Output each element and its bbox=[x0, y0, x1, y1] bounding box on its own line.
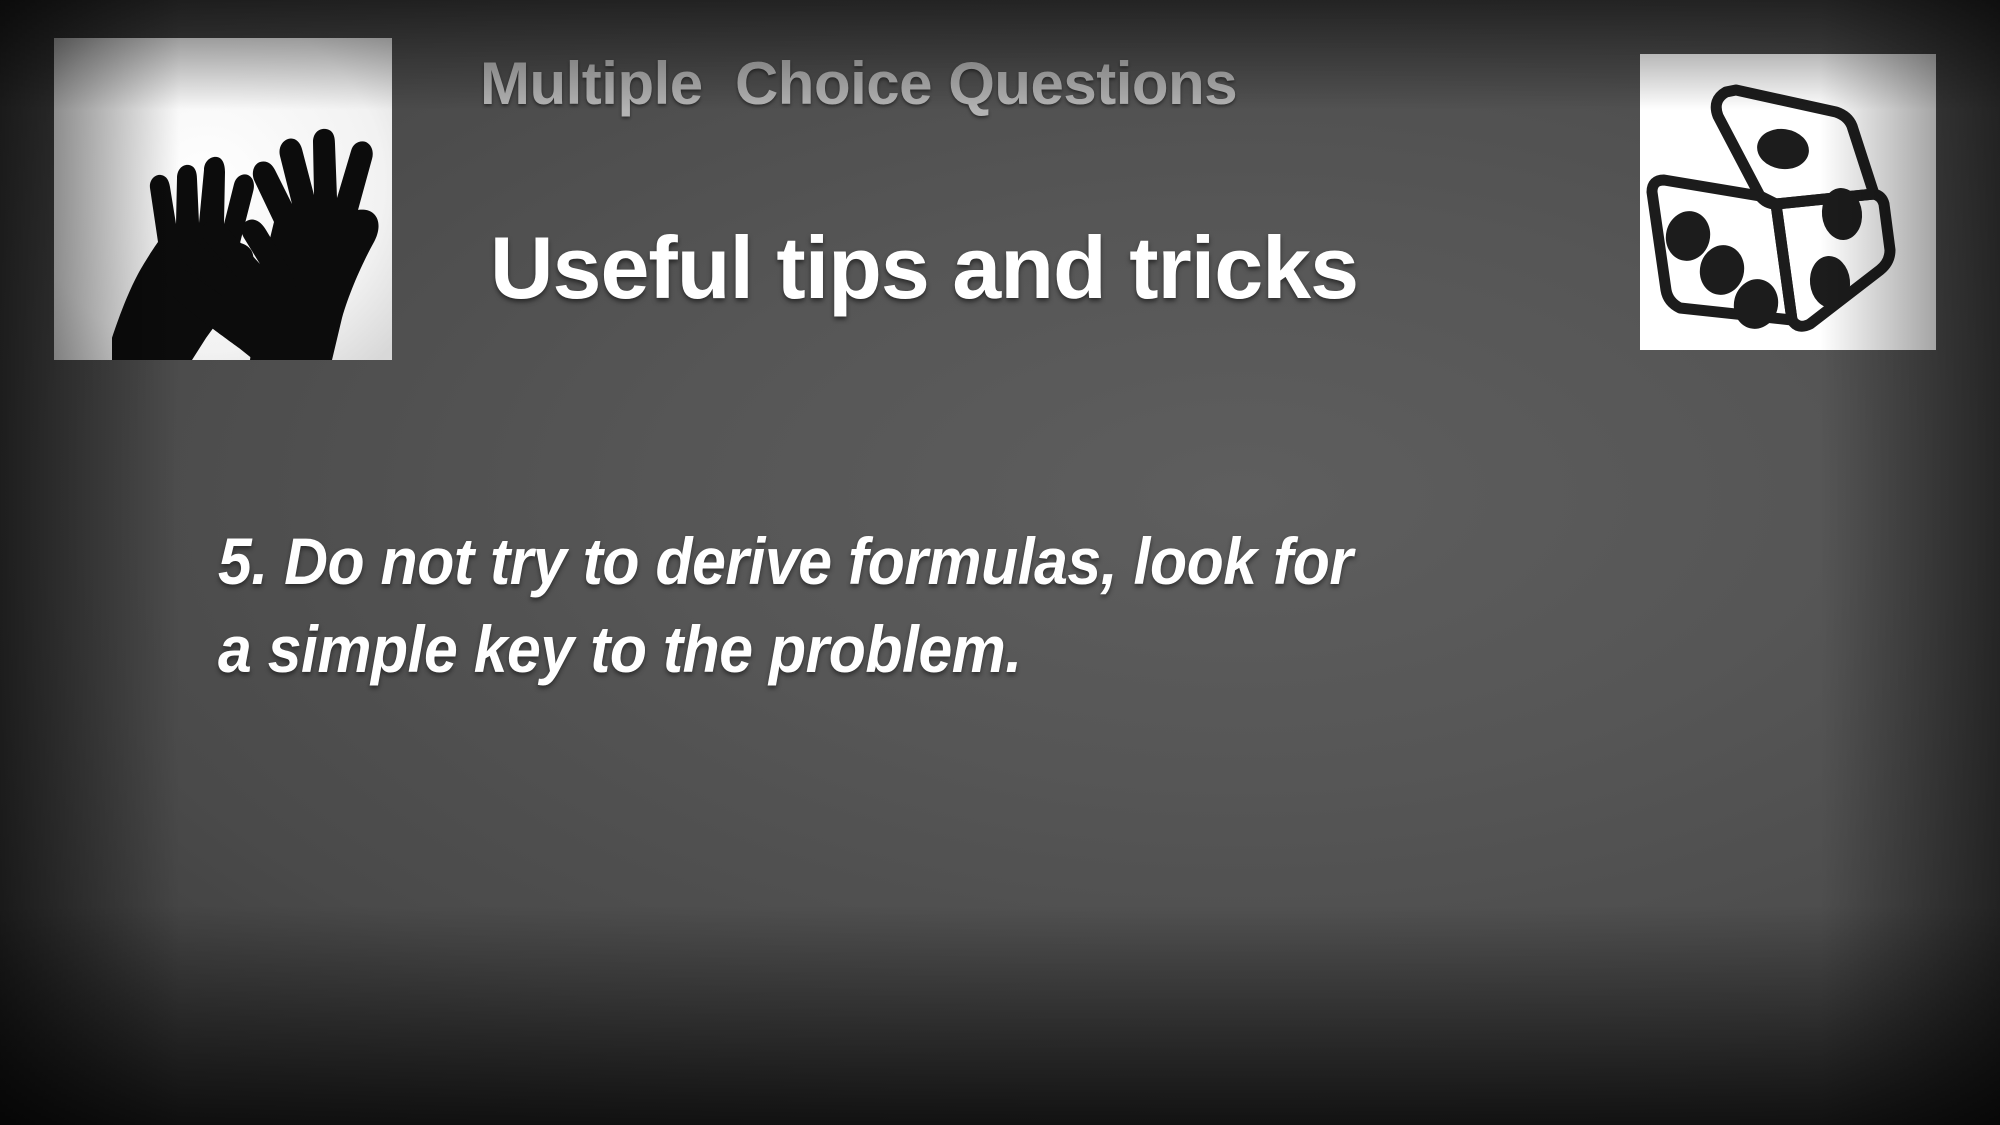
dice-artwork bbox=[1640, 54, 1936, 350]
dice-line-art-image bbox=[1640, 54, 1936, 350]
slide-body-text: 5. Do not try to derive formulas, look f… bbox=[218, 518, 1690, 694]
presentation-slide: Multiple Choice Questions Useful tips an… bbox=[0, 0, 2000, 1125]
raised-hands-silhouette-photo bbox=[54, 38, 392, 360]
page-title: Useful tips and tricks bbox=[490, 222, 1610, 314]
hands-silhouette-artwork bbox=[54, 38, 392, 360]
body-line-2: a simple key to the problem. bbox=[218, 606, 1690, 694]
slide-kicker-title: Multiple Choice Questions bbox=[480, 52, 1600, 115]
body-line-1: 5. Do not try to derive formulas, look f… bbox=[218, 518, 1690, 606]
